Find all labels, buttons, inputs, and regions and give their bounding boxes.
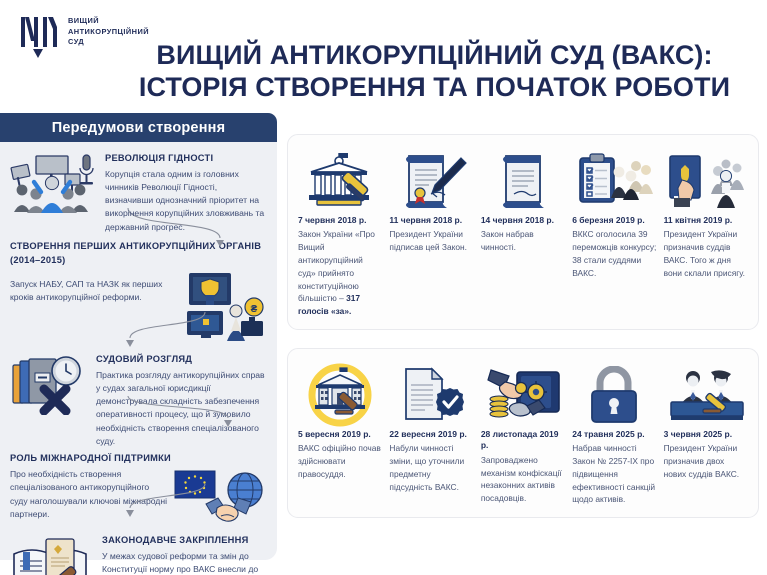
timeline-desc: Запроваджено механізм конфіскації незако… bbox=[481, 454, 565, 505]
timeline-desc: Президент України призначив суддів ВАКС.… bbox=[664, 228, 748, 279]
timeline-date: 7 червня 2018 р. bbox=[298, 215, 382, 226]
anticorruption-agency-icon: ₴ bbox=[181, 271, 265, 343]
timeline-item: 28 листопада 2019 р. Запроваджено механі… bbox=[481, 361, 565, 506]
timeline-desc: Закон набрав чинності. bbox=[481, 228, 565, 254]
page-header: ВИЩИЙ АНТИКОРУПЦІЙНИЙ СУД ВИЩИЙ АНТИКОРУ… bbox=[0, 0, 767, 112]
timeline-date: 14 червня 2018 р. bbox=[481, 215, 565, 226]
timeline-item: 22 вересня 2019 р. Набули чинності зміни… bbox=[389, 361, 473, 506]
vaks-monogram-logo-icon bbox=[18, 11, 60, 59]
prerequisite-section-international: РОЛЬ МІЖНАРОДНОЇ ПІДТРИМКИ Про необхідні… bbox=[10, 452, 265, 526]
title-line-2: ІСТОРІЯ СТВОРЕННЯ ТА ПОЧАТОК РОБОТИ bbox=[112, 72, 757, 104]
prerequisites-panel-body: РЕВОЛЮЦІЯ ГІДНОСТІ Корупція стала одним … bbox=[0, 142, 277, 560]
revolution-paragraph: Корупція стала одним із головних чинникі… bbox=[105, 168, 265, 235]
bodies-paragraph: Запуск НАБУ, САП та НАЗК як перших крокі… bbox=[10, 278, 175, 305]
international-heading: РОЛЬ МІЖНАРОДНОЇ ПІДТРИМКИ bbox=[10, 452, 265, 465]
bodies-heading: СТВОРЕННЯ ПЕРШИХ АНТИКОРУПЦІЙНИХ ОРГАНІВ… bbox=[10, 240, 265, 268]
prerequisites-panel: Передумови створення bbox=[0, 113, 277, 560]
courthouse-highlight-icon bbox=[298, 361, 382, 429]
case-files-clock-cross-icon bbox=[10, 353, 88, 415]
timeline-item: 7 червня 2018 р. Закон України «Про Вищи… bbox=[298, 147, 382, 318]
svg-text:₴: ₴ bbox=[251, 304, 258, 315]
prerequisite-section-bodies: СТВОРЕННЯ ПЕРШИХ АНТИКОРУПЦІЙНИХ ОРГАНІВ… bbox=[10, 240, 265, 343]
review-paragraph: Практика розгляду антикорупційних справ … bbox=[96, 369, 265, 449]
timeline-date: 11 квітня 2019 р. bbox=[664, 215, 748, 226]
revolution-text-block: РЕВОЛЮЦІЯ ГІДНОСТІ Корупція стала одним … bbox=[105, 152, 265, 234]
oath-constitution-judges-icon bbox=[664, 147, 748, 215]
timeline-item: 3 червня 2025 р. Президент України призн… bbox=[664, 361, 748, 506]
signed-document-pen-icon bbox=[389, 147, 473, 215]
timeline-item: 24 травня 2025 р. Набрав чинності Закон … bbox=[572, 361, 656, 506]
timeline-card-row2: 5 вересня 2019 р. ВАКС офіційно почав зд… bbox=[287, 348, 759, 518]
logo-line-2: АНТИКОРУПЦІЙНИЙ bbox=[68, 27, 149, 38]
legislative-paragraph: У межах судової реформи та змін до Конст… bbox=[102, 550, 265, 575]
prerequisite-section-revolution: РЕВОЛЮЦІЯ ГІДНОСТІ Корупція стала одним … bbox=[10, 152, 265, 234]
safe-coins-confiscation-icon bbox=[481, 361, 565, 429]
logo-line-1: ВИЩИЙ bbox=[68, 16, 149, 27]
infographic-page: ВИЩИЙ АНТИКОРУПЦІЙНИЙ СУД ВИЩИЙ АНТИКОРУ… bbox=[0, 0, 767, 575]
timeline-desc: Президент України підписав цей Закон. bbox=[389, 228, 473, 254]
timeline-desc: Набули чинності зміни, що уточнили предм… bbox=[389, 442, 473, 493]
title-line-1: ВИЩИЙ АНТИКОРУПЦІЙНИЙ СУД (ВАКС): bbox=[156, 40, 712, 70]
timeline-column: 7 червня 2018 р. Закон України «Про Вищи… bbox=[287, 134, 759, 518]
timeline-date: 6 березня 2019 р. bbox=[572, 215, 656, 226]
legislative-text-block: ЗАКОНОДАВЧЕ ЗАКРІПЛЕННЯ У межах судової … bbox=[102, 534, 265, 575]
timeline-item: 11 червня 2018 р. Президент України підп… bbox=[389, 147, 473, 318]
timeline-desc: ВККС оголосила 39 переможців конкурсу; 3… bbox=[572, 228, 656, 279]
legislative-heading: ЗАКОНОДАВЧЕ ЗАКРІПЛЕННЯ bbox=[102, 534, 265, 547]
checklist-candidates-icon bbox=[572, 147, 656, 215]
timeline-card-row1: 7 червня 2018 р. Закон України «Про Вищи… bbox=[287, 134, 759, 330]
protest-crowd-icon bbox=[10, 152, 96, 214]
timeline-desc: Закон України «Про Вищий антикорупційний… bbox=[298, 228, 382, 317]
timeline-item: 11 квітня 2019 р. Президент України приз… bbox=[664, 147, 748, 318]
revolution-heading: РЕВОЛЮЦІЯ ГІДНОСТІ bbox=[105, 152, 265, 165]
prerequisite-section-review: СУДОВИЙ РОЗГЛЯД Практика розгляду антико… bbox=[10, 353, 265, 448]
padlock-icon bbox=[572, 361, 656, 429]
timeline-date: 24 травня 2025 р. bbox=[572, 429, 656, 440]
timeline-date: 28 листопада 2019 р. bbox=[481, 429, 565, 452]
timeline-item: 14 червня 2018 р. Закон набрав чинності. bbox=[481, 147, 565, 318]
document-check-badge-icon bbox=[389, 361, 473, 429]
timeline-date: 11 червня 2018 р. bbox=[389, 215, 473, 226]
page-title: ВИЩИЙ АНТИКОРУПЦІЙНИЙ СУД (ВАКС): ІСТОРІ… bbox=[112, 40, 757, 104]
review-text-block: СУДОВИЙ РОЗГЛЯД Практика розгляду антико… bbox=[96, 353, 265, 448]
timeline-date: 3 червня 2025 р. bbox=[664, 429, 748, 440]
courthouse-gavel-icon bbox=[298, 147, 382, 215]
international-paragraph: Про необхідність створення спеціалізован… bbox=[10, 468, 167, 521]
timeline-item: 5 вересня 2019 р. ВАКС офіційно почав зд… bbox=[298, 361, 382, 506]
timeline-date: 22 вересня 2019 р. bbox=[389, 429, 473, 440]
review-heading: СУДОВИЙ РОЗГЛЯД bbox=[96, 353, 265, 366]
judges-bench-gavel-icon bbox=[664, 361, 748, 429]
timeline-date: 5 вересня 2019 р. bbox=[298, 429, 382, 440]
prerequisites-panel-title: Передумови створення bbox=[0, 113, 277, 142]
timeline-desc: ВАКС офіційно почав здійснювати правосуд… bbox=[298, 442, 382, 480]
timeline-item: 6 березня 2019 р. ВККС оголосила 39 пере… bbox=[572, 147, 656, 318]
timeline-desc: Президент України призначив двох нових с… bbox=[664, 442, 748, 480]
open-book-scroll-gavel-icon bbox=[10, 534, 94, 575]
timeline-desc: Набрав чинності Закон № 2257-IX про підв… bbox=[572, 442, 656, 506]
prerequisite-section-legislative: ЗАКОНОДАВЧЕ ЗАКРІПЛЕННЯ У межах судової … bbox=[10, 534, 265, 575]
eu-flag-handshake-globe-icon bbox=[173, 468, 265, 526]
scroll-document-icon bbox=[481, 147, 565, 215]
